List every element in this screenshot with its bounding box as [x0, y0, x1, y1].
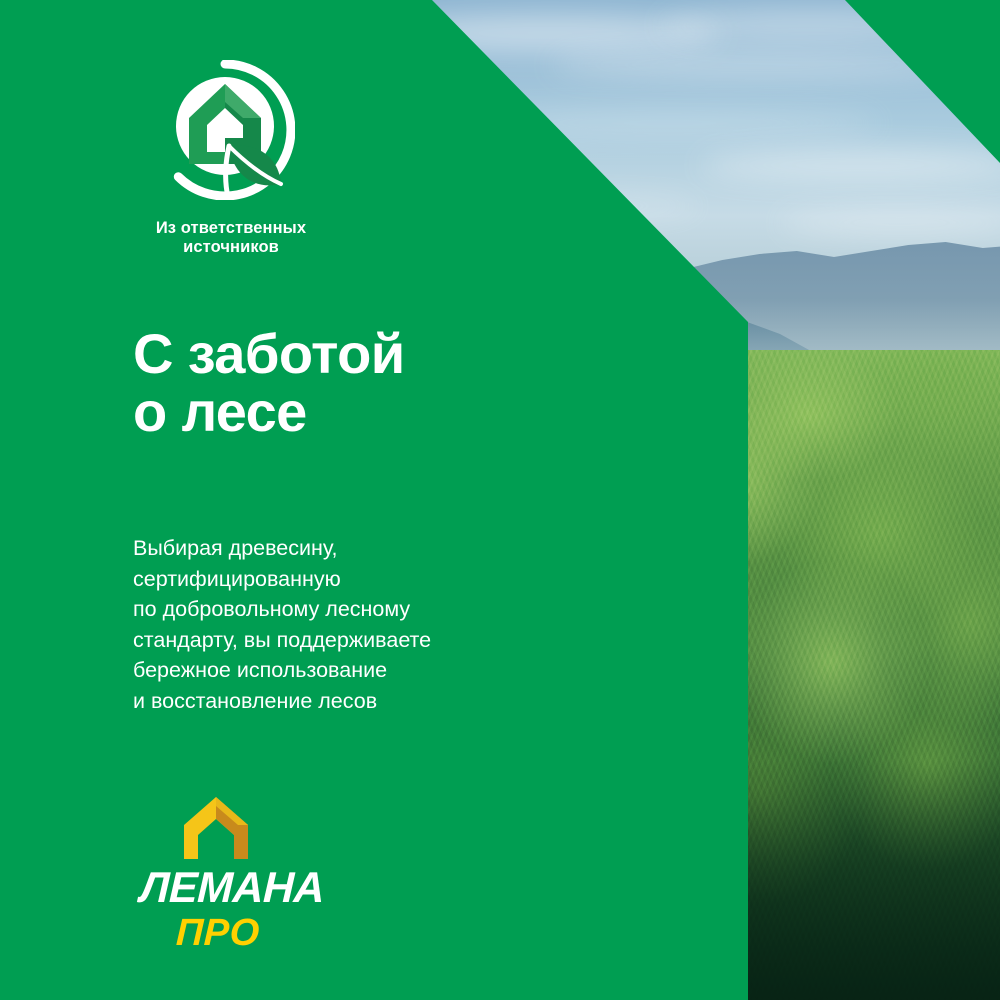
- certification-caption: Из ответственных источников: [133, 219, 329, 258]
- responsible-sources-emblem-icon: [155, 60, 295, 200]
- poster-canvas: Из ответственных источников С заботой о …: [0, 0, 1000, 1000]
- content-column: Из ответственных источников С заботой о …: [0, 0, 748, 1000]
- brand-tier: ПРО: [175, 914, 320, 952]
- body-copy: Выбирая древесину, сертифицированную по …: [133, 533, 533, 716]
- brand-lockup: ЛЕМАНА ПРО: [140, 795, 320, 952]
- page-title: С заботой о лесе: [133, 325, 405, 441]
- cloud-icon: [780, 210, 1000, 236]
- brand-name: ЛЕМАНА: [139, 867, 321, 910]
- certification-badge: Из ответственных источников: [133, 60, 363, 258]
- lemana-house-icon: [180, 795, 252, 861]
